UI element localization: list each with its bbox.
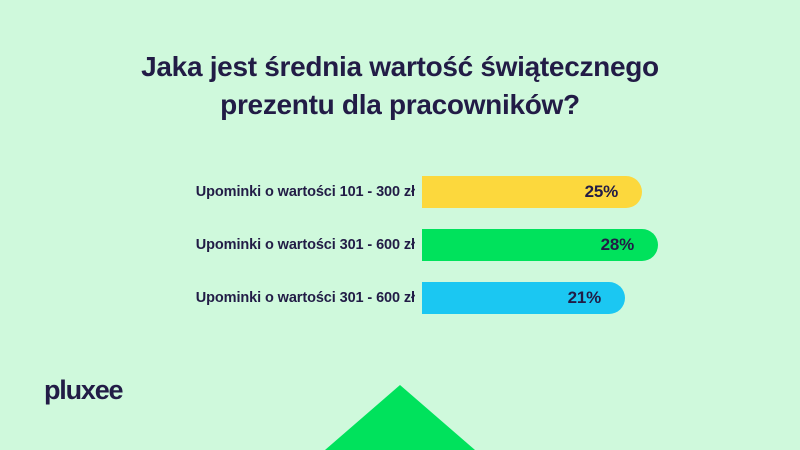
bar-value-label: 25% <box>585 182 618 202</box>
bar-category-label: Upominki o wartości 101 - 300 zł <box>196 176 415 208</box>
triangle-decoration <box>325 385 475 450</box>
bar-fill: 28% <box>422 229 658 261</box>
bar-fill: 21% <box>422 282 625 314</box>
bar-fill: 25% <box>422 176 642 208</box>
bar-track: 28% <box>422 229 658 261</box>
bar-row: Upominki o wartości 101 - 300 zł 25% <box>0 176 800 208</box>
bar-track: 21% <box>422 282 625 314</box>
bar-chart: Upominki o wartości 101 - 300 zł 25% Upo… <box>0 176 800 335</box>
bar-category-label: Upominki o wartości 301 - 600 zł <box>196 229 415 261</box>
bar-value-label: 21% <box>568 288 601 308</box>
pluxee-logo: pluxee <box>44 375 122 406</box>
page-title: Jaka jest średnia wartość świątecznego p… <box>60 48 740 124</box>
bar-category-label: Upominki o wartości 301 - 600 zł <box>196 282 415 314</box>
bar-row: Upominki o wartości 301 - 600 zł 28% <box>0 229 800 261</box>
bar-track: 25% <box>422 176 642 208</box>
bar-row: Upominki o wartości 301 - 600 zł 21% <box>0 282 800 314</box>
bar-value-label: 28% <box>601 235 634 255</box>
infographic-canvas: Jaka jest średnia wartość świątecznego p… <box>0 0 800 450</box>
